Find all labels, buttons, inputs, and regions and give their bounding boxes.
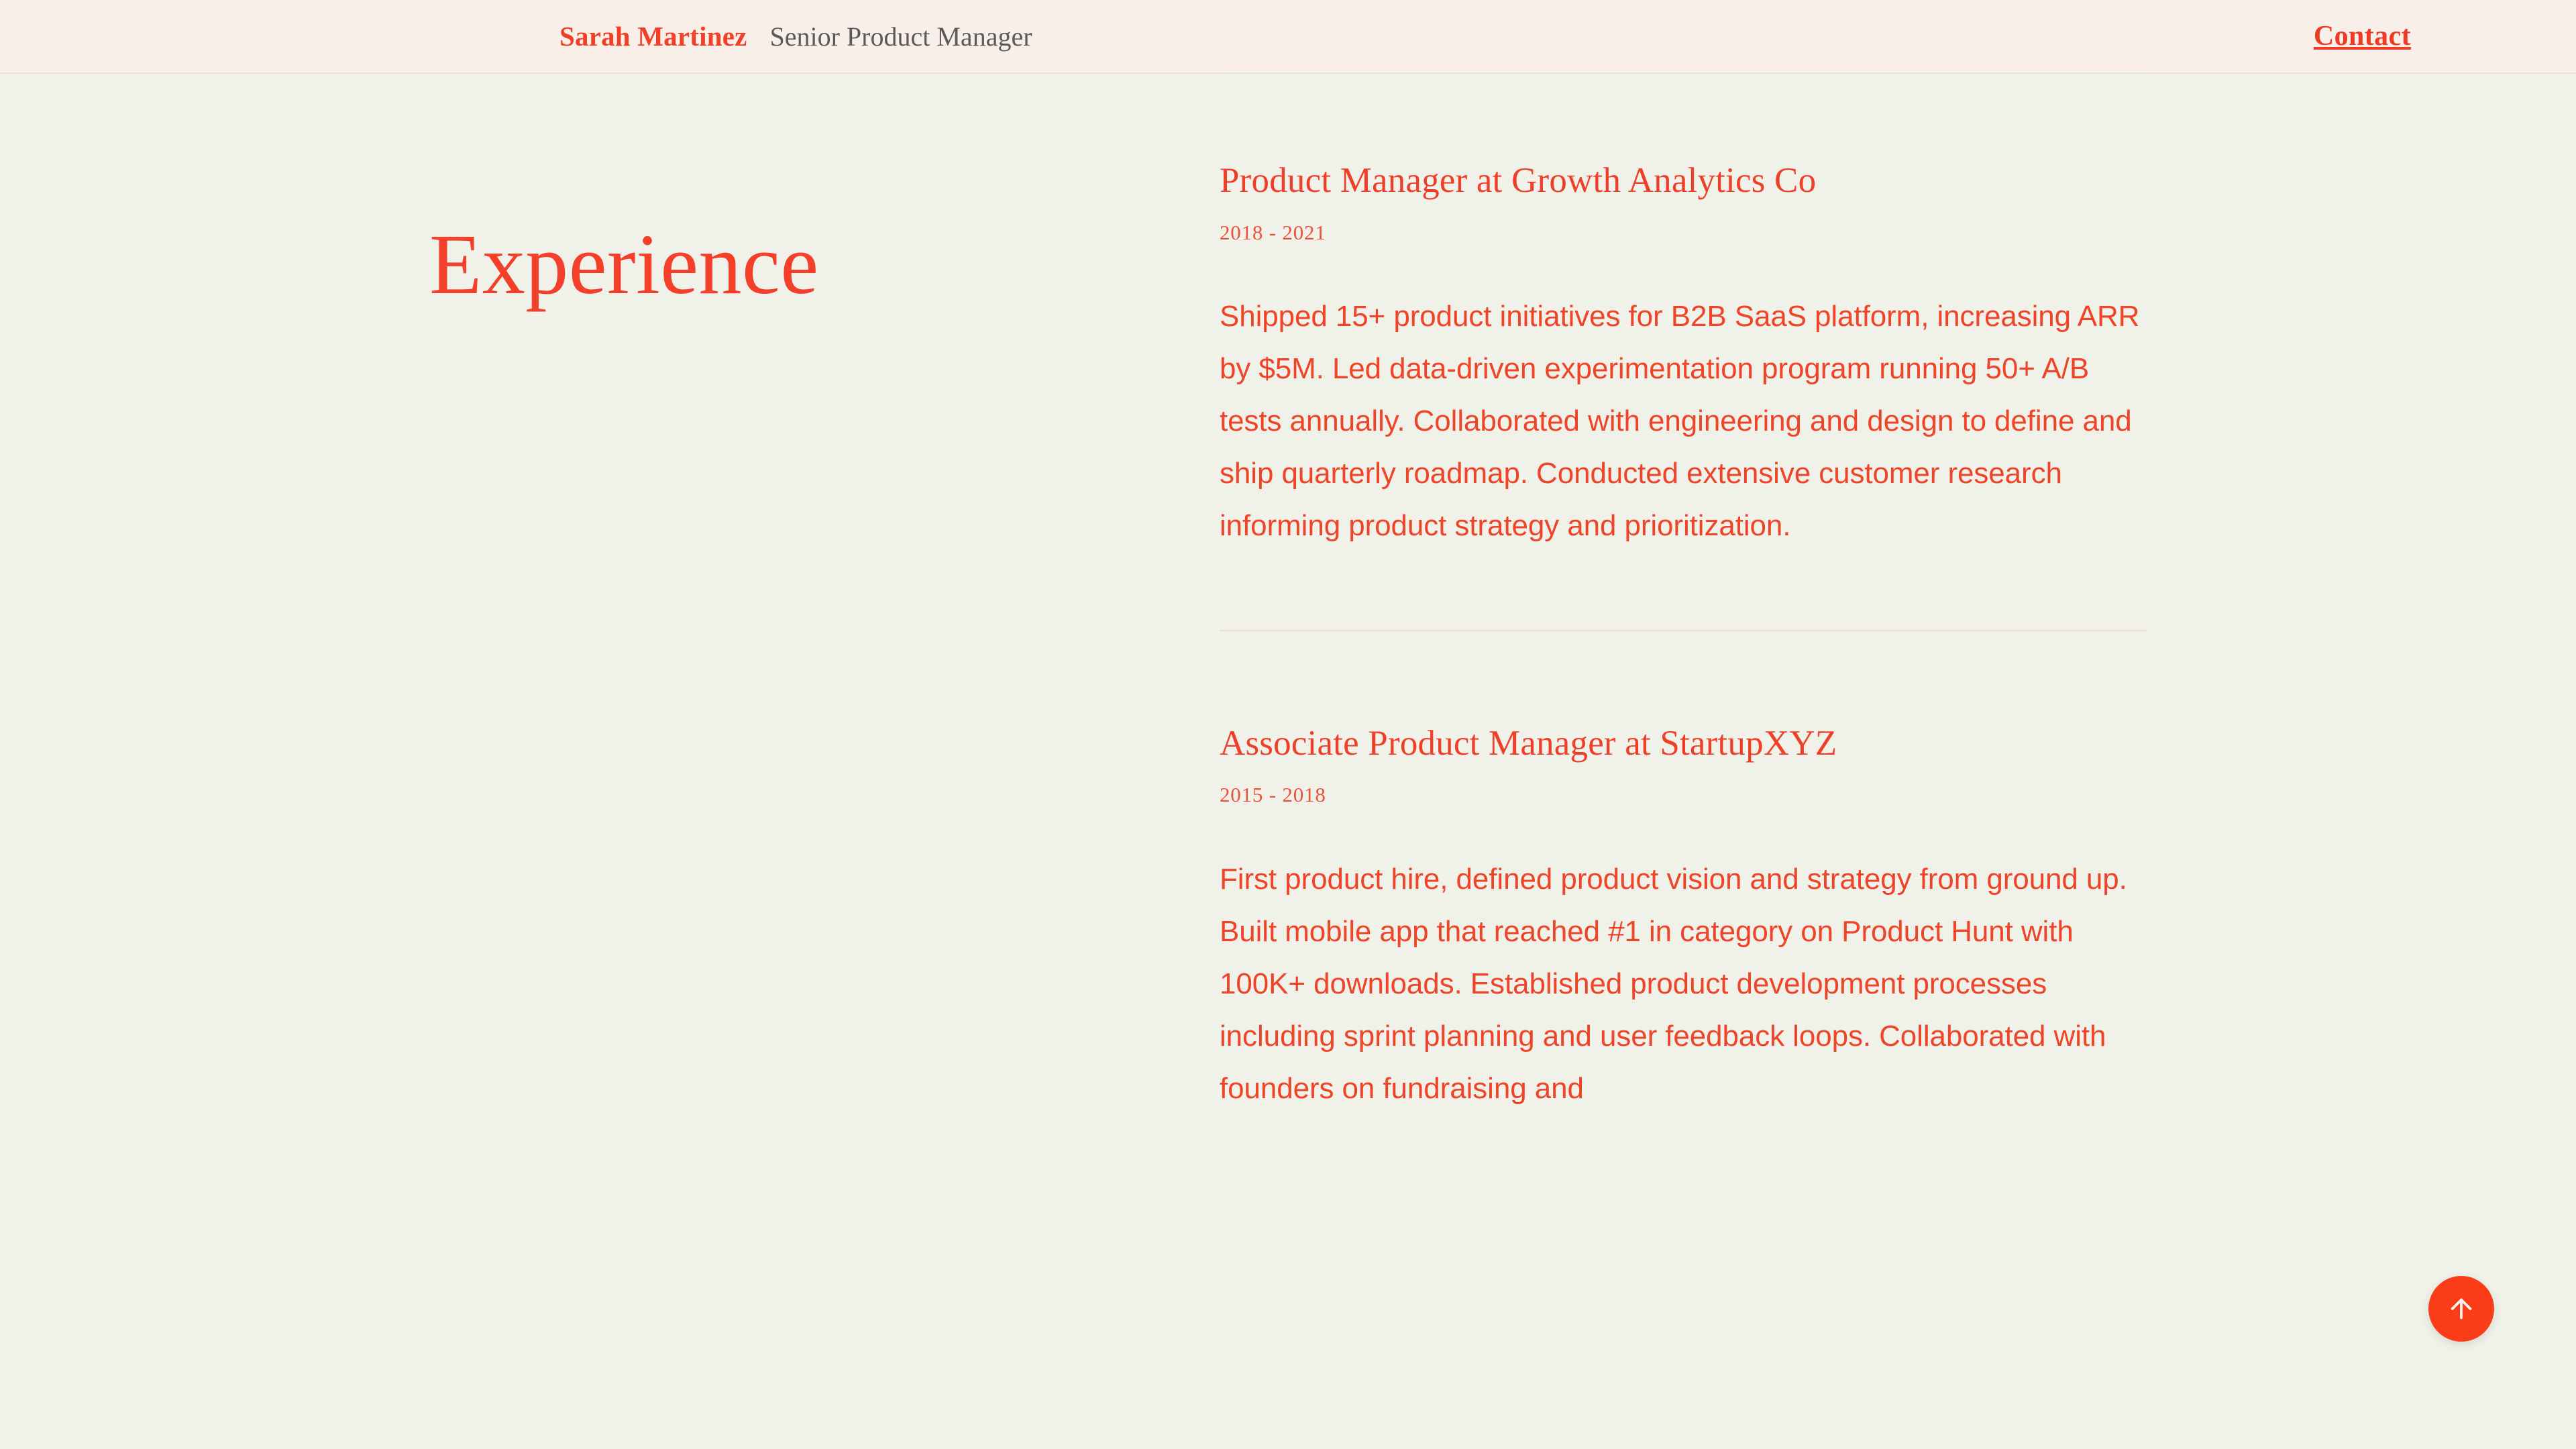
page-content: Experience engineers, designers, and ana… <box>0 0 2576 1449</box>
experience-entry-title: Associate Product Manager at StartupXYZ <box>1220 722 2147 765</box>
layout-spacer <box>1220 631 2147 722</box>
brand-block[interactable]: Sarah Martinez Senior Product Manager <box>559 0 1032 72</box>
experience-entry-description: First product hire, defined product visi… <box>1220 853 2147 1115</box>
experience-entry-startupxyz: Associate Product Manager at StartupXYZ … <box>1220 722 2147 1115</box>
experience-entry-dates: 2018 - 2021 <box>1220 220 2147 245</box>
page-title: Experience <box>429 221 819 307</box>
layout-spacer <box>1220 68 2147 160</box>
experience-list: engineers, designers, and analysts. Defi… <box>1220 0 2147 1115</box>
scroll-to-top-button[interactable] <box>2428 1276 2494 1342</box>
experience-entry-growth-analytics: Product Manager at Growth Analytics Co 2… <box>1220 160 2147 631</box>
site-header: Sarah Martinez Senior Product Manager Co… <box>0 0 2576 74</box>
experience-entry-dates: 2015 - 2018 <box>1220 782 2147 807</box>
experience-entry-title: Product Manager at Growth Analytics Co <box>1220 160 2147 203</box>
brand-name[interactable]: Sarah Martinez <box>559 20 747 52</box>
entry-divider <box>1220 630 2147 631</box>
experience-entry-description: Shipped 15+ product initiatives for B2B … <box>1220 290 2147 552</box>
nav-link-contact[interactable]: Contact <box>2314 0 2411 72</box>
brand-role: Senior Product Manager <box>770 21 1032 52</box>
arrow-up-icon <box>2446 1293 2477 1324</box>
